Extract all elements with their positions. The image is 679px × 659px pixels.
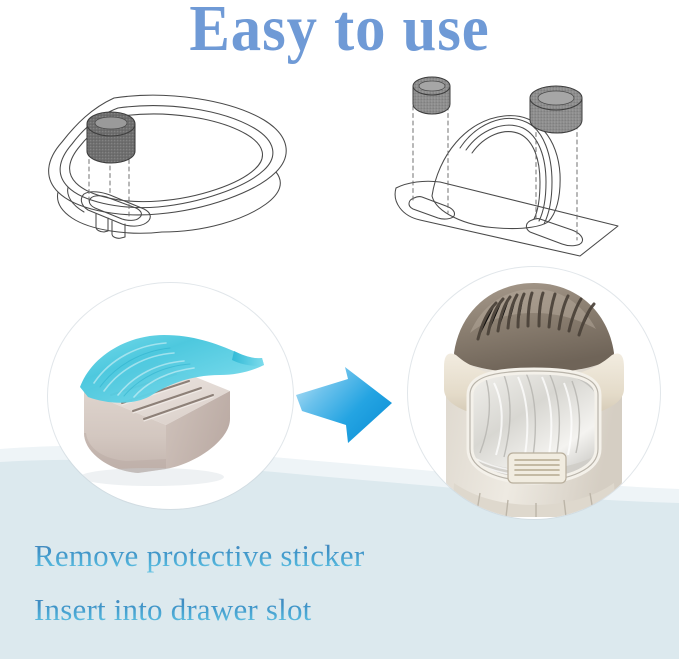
product-peel-sticker-photo	[48, 283, 293, 509]
infographic-page: Easy to use	[0, 0, 679, 659]
dome-rib-inner	[466, 125, 546, 221]
right-arrow	[296, 363, 396, 447]
lid-assembly-line-drawing	[380, 70, 670, 260]
litter-box-drawer-slot-photo	[408, 267, 660, 519]
hoop-skirt-right	[162, 172, 280, 232]
cartridge-block-left	[413, 77, 450, 114]
dome-rib-outer	[460, 118, 552, 224]
arrow-shape	[296, 367, 392, 443]
base-plate	[395, 181, 618, 256]
caption-insert-slot: Insert into drawer slot	[34, 592, 312, 628]
cartridge-block-gray	[87, 112, 135, 163]
dome-rib-inner2	[472, 132, 540, 219]
hoop-frame-line-drawing	[18, 74, 318, 260]
inserted-cartridge	[508, 453, 566, 483]
caption-remove-sticker: Remove protective sticker	[34, 538, 364, 574]
slot-tab-right	[112, 221, 125, 238]
dome-outer	[432, 116, 560, 222]
dome-base	[432, 196, 548, 229]
cartridge-block-right	[530, 86, 582, 133]
page-title: Easy to use	[27, 0, 652, 62]
slot-right	[526, 219, 582, 246]
